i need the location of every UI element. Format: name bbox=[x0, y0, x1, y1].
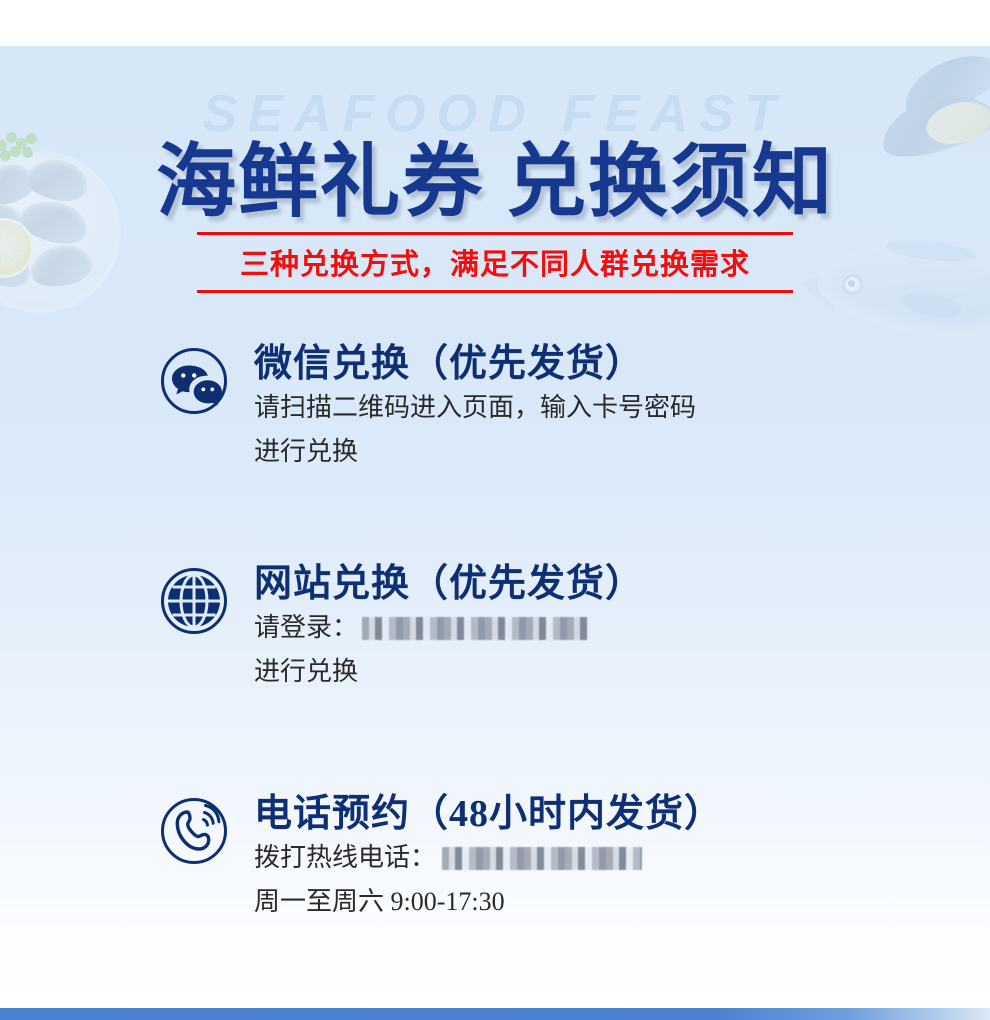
method-line-2: 周一至周六 9:00-17:30 bbox=[254, 881, 723, 923]
subtitle-rule-bottom bbox=[197, 290, 793, 293]
icon-ring bbox=[161, 568, 227, 634]
login-label: 请登录： bbox=[254, 613, 358, 642]
method-line-2: 进行兑换 bbox=[254, 651, 644, 693]
seafood-voucher-redemption-page: SEAFOOD FEAST 海鲜礼券 兑换须知 三种兑换方式，满足不同人群兑换需… bbox=[0, 0, 990, 1020]
icon-ring bbox=[161, 798, 227, 864]
page-title: 海鲜礼券 兑换须知 bbox=[0, 117, 990, 233]
method-line-2: 进行兑换 bbox=[254, 431, 696, 473]
method-line-1: 请登录： bbox=[254, 607, 644, 649]
hotline-label: 拨打热线电话： bbox=[254, 843, 436, 872]
icon-ring bbox=[161, 348, 227, 414]
method-wechat-texts: 微信兑换（优先发货） 请扫描二维码进入页面，输入卡号密码 进行兑换 bbox=[254, 345, 696, 473]
method-line-1: 请扫描二维码进入页面，输入卡号密码 bbox=[254, 387, 696, 429]
subtitle-block: 三种兑换方式，满足不同人群兑换需求 bbox=[197, 232, 793, 293]
method-heading: 电话预约（48小时内发货） bbox=[254, 795, 723, 835]
page-subtitle: 三种兑换方式，满足不同人群兑换需求 bbox=[197, 235, 793, 290]
method-website: 网站兑换（优先发货） 请登录： 进行兑换 bbox=[158, 565, 644, 693]
wechat-icon bbox=[158, 345, 236, 423]
method-phone: 电话预约（48小时内发货） 拨打热线电话： 周一至周六 9:00-17:30 bbox=[158, 795, 723, 923]
method-phone-texts: 电话预约（48小时内发货） 拨打热线电话： 周一至周六 9:00-17:30 bbox=[254, 795, 723, 923]
method-wechat: 微信兑换（优先发货） 请扫描二维码进入页面，输入卡号密码 进行兑换 bbox=[158, 345, 696, 473]
method-line-1: 拨打热线电话： bbox=[254, 837, 723, 879]
phone-icon bbox=[158, 795, 236, 873]
redacted-url bbox=[362, 617, 590, 640]
globe-icon bbox=[158, 565, 236, 643]
method-website-texts: 网站兑换（优先发货） 请登录： 进行兑换 bbox=[254, 565, 644, 693]
method-heading: 微信兑换（优先发货） bbox=[254, 345, 696, 385]
redacted-phone-number bbox=[442, 847, 642, 870]
bottom-white-band bbox=[0, 1000, 990, 1008]
footer-bar bbox=[0, 1008, 990, 1020]
method-heading: 网站兑换（优先发货） bbox=[254, 565, 644, 605]
top-white-band bbox=[0, 0, 990, 46]
